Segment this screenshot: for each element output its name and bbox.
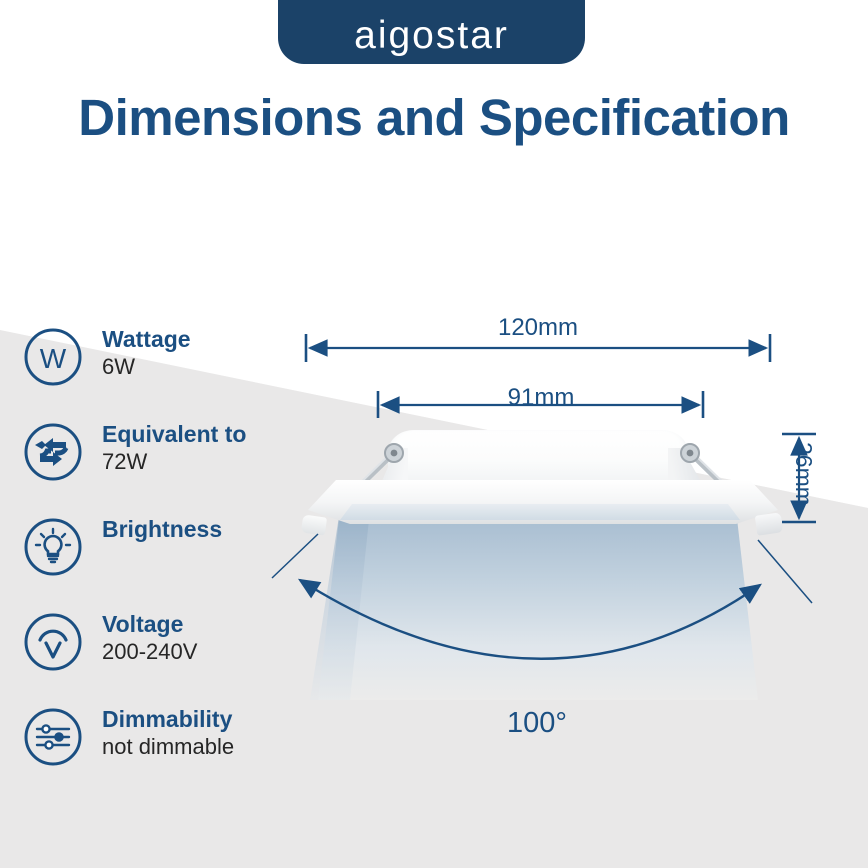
- page-title: Dimensions and Specification: [0, 88, 868, 147]
- spec-label: Equivalent to: [102, 420, 246, 448]
- spec-row-brightness: Brightness: [22, 512, 312, 607]
- svg-text:W: W: [40, 343, 67, 374]
- light-beam-cone: [318, 510, 758, 700]
- brand-logo-text: aigostar: [354, 16, 509, 55]
- spec-label: Brightness: [102, 515, 222, 543]
- housing-tab-right: [755, 512, 784, 535]
- product-downlight-image: [300, 418, 800, 618]
- label-outer-width: 120mm: [0, 314, 868, 342]
- label-height: 26mm: [790, 442, 817, 506]
- voltage-v-circle-icon: [22, 611, 84, 673]
- product-spec-infographic: aigostar Dimensions and Specification: [0, 0, 868, 868]
- spec-row-voltage: Voltage 200-240V: [22, 607, 312, 702]
- spec-value: 72W: [102, 448, 246, 477]
- equivalent-swap-arrows-icon: [22, 421, 84, 483]
- spec-value: 6W: [102, 353, 191, 382]
- spec-value: 200-240V: [102, 638, 197, 667]
- brand-logo-badge: aigostar: [278, 0, 585, 64]
- brightness-bulb-icon: [22, 516, 84, 578]
- spec-label: Voltage: [102, 610, 197, 638]
- spec-row-equivalent: Equivalent to 72W: [22, 417, 312, 512]
- downlight-diffuser-edge: [340, 504, 740, 520]
- label-beam-angle: 100°: [0, 707, 868, 740]
- label-cutout-width: 91mm: [0, 384, 868, 412]
